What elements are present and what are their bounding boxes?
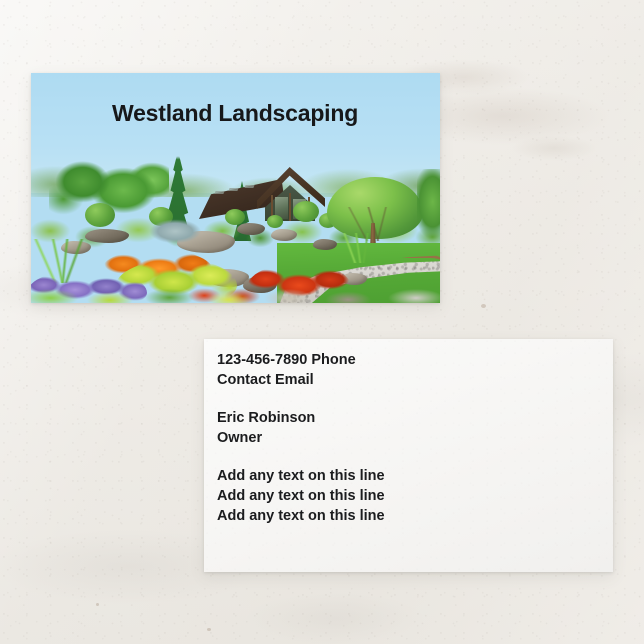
foreground-foliage-strip — [31, 287, 440, 303]
business-card-mockup-scene: Westland Landscaping 123-456-7890 Phone … — [0, 0, 644, 644]
stone-fleck — [481, 304, 486, 308]
topiary-ball — [293, 201, 319, 222]
boulder — [313, 239, 337, 250]
contact-text-block: 123-456-7890 Phone Contact Email Eric Ro… — [217, 350, 601, 526]
custom-line-3: Add any text on this line — [217, 506, 601, 526]
roof-skylight — [228, 188, 238, 191]
custom-line-2: Add any text on this line — [217, 486, 601, 506]
topiary-ball — [267, 215, 283, 228]
topiary-ball — [225, 209, 245, 225]
text-spacer — [217, 448, 601, 466]
business-card-front[interactable]: Westland Landscaping — [31, 73, 440, 303]
person-title: Owner — [217, 428, 601, 448]
person-name: Eric Robinson — [217, 408, 601, 428]
email-line: Contact Email — [217, 370, 601, 390]
roof-skylight — [244, 185, 254, 188]
tree-right-edge — [417, 169, 440, 251]
blue-spruce-shrub — [143, 219, 213, 247]
ornamental-grass-mid — [331, 233, 389, 263]
text-spacer — [217, 390, 601, 408]
stone-fleck — [207, 628, 211, 631]
stone-fleck — [96, 603, 99, 606]
roof-skylight — [214, 191, 224, 194]
topiary-ball — [85, 203, 115, 227]
custom-line-1: Add any text on this line — [217, 466, 601, 486]
business-card-back[interactable]: 123-456-7890 Phone Contact Email Eric Ro… — [204, 339, 613, 572]
phone-line: 123-456-7890 Phone — [217, 350, 601, 370]
boulder — [271, 229, 297, 241]
company-name-title: Westland Landscaping — [112, 100, 358, 127]
boulder — [237, 223, 265, 235]
